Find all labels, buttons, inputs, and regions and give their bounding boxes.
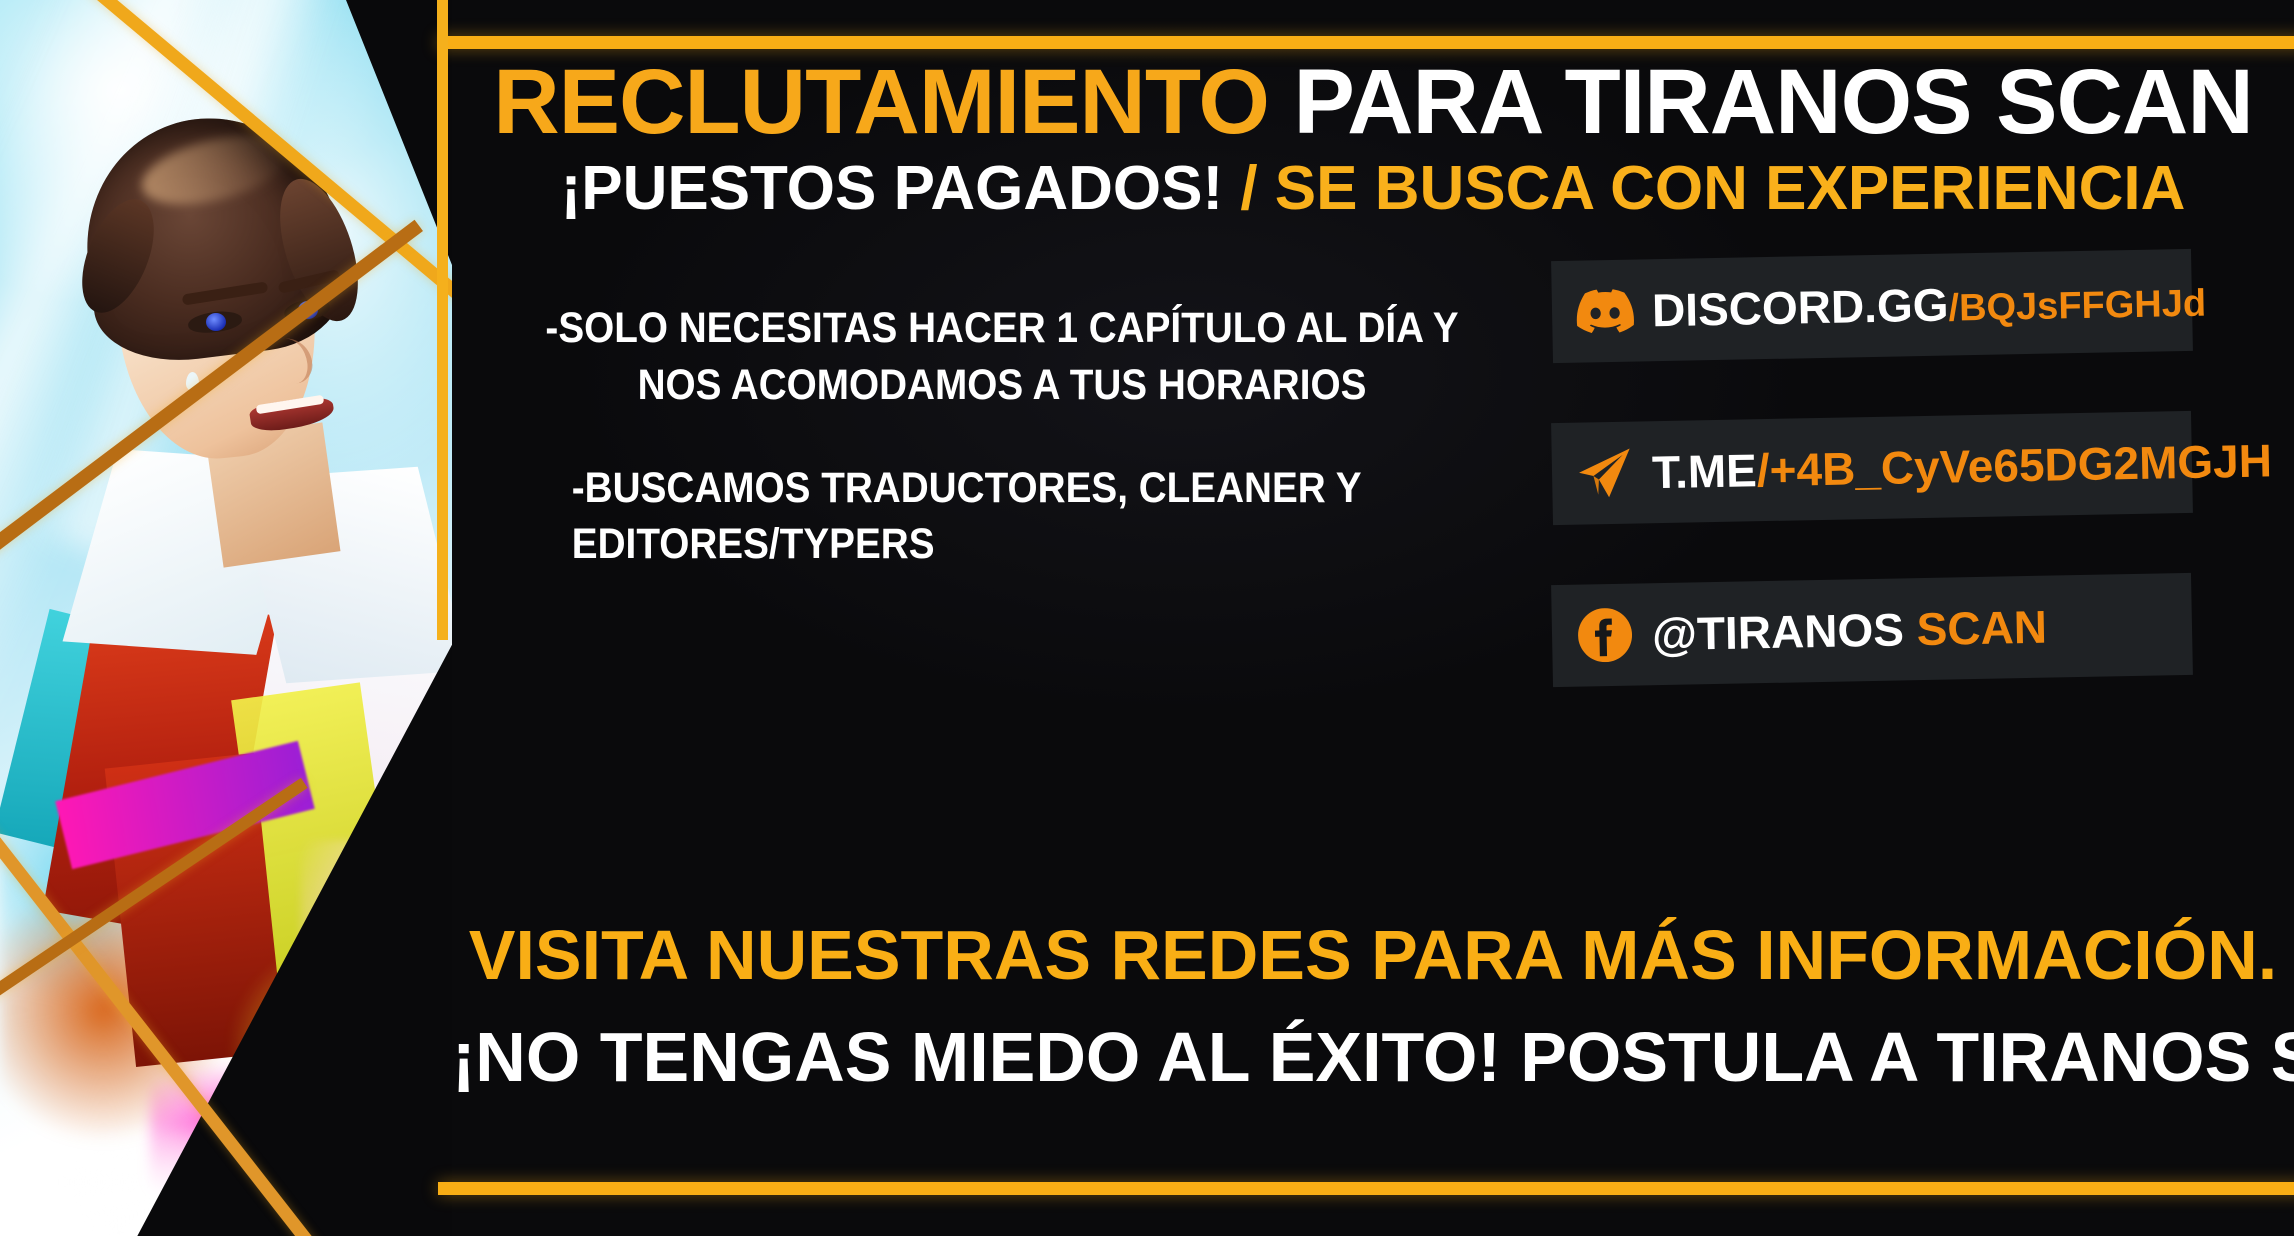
contact-discord[interactable]: DISCORD.GG/BQJsFFGHJd [1551,249,2193,363]
facebook-handle: @TIRANOS [1652,603,1918,660]
subtitle-paid: ¡PUESTOS PAGADOS! [561,154,1241,223]
contact-facebook[interactable]: @TIRANOS SCAN [1551,573,2193,687]
content-panel: RECLUTAMIENTO PARA TIRANOS SCAN ¡PUESTOS… [452,0,2294,1236]
requirement-item-1: -SOLO NECESITAS HACER 1 CAPÍTULO AL DÍA … [525,300,1479,414]
artwork-panel [0,0,452,1236]
cta-line-2: ¡NO TENGAS MIEDO AL ÉXITO! POSTULA A TIR… [452,1022,2294,1092]
title-highlight: RECLUTAMIENTO [493,51,1269,153]
facebook-icon [1574,608,1637,663]
discord-domain: DISCORD.GG [1652,279,1949,337]
gold-vertical-edge [437,0,448,640]
facebook-handle-suffix: SCAN [1916,601,2047,655]
contact-list: DISCORD.GG/BQJsFFGHJd T.ME/+4B_CyVe65DG2… [1552,255,2192,741]
contact-telegram-label: T.ME/+4B_CyVe65DG2MGJH [1652,433,2273,499]
telegram-domain: T.ME [1652,444,1758,498]
gold-rule-bottom [438,1182,2294,1195]
page-subtitle: ¡PUESTOS PAGADOS! / SE BUSCA CON EXPERIE… [452,158,2294,220]
gold-rule-top [438,36,2294,49]
recruitment-banner: RECLUTAMIENTO PARA TIRANOS SCAN ¡PUESTOS… [0,0,2294,1236]
requirements-list: -SOLO NECESITAS HACER 1 CAPÍTULO AL DÍA … [525,300,1479,573]
telegram-invite-code: /+4B_CyVe65DG2MGJH [1756,434,2272,496]
requirement-item-2: -BUSCAMOS TRADUCTORES, CLEANER Y EDITORE… [525,460,1479,574]
iris-left [206,313,226,331]
cta-line-1: VISITA NUESTRAS REDES PARA MÁS INFORMACI… [452,920,2294,990]
subtitle-experience: / SE BUSCA CON EXPERIENCIA [1240,154,2185,223]
telegram-icon [1574,447,1637,500]
contact-facebook-label: @TIRANOS SCAN [1652,600,2048,662]
discord-invite-code: /BQJsFFGHJd [1948,283,2206,330]
title-rest: PARA TIRANOS SCAN [1269,51,2253,153]
discord-icon [1574,289,1637,334]
page-title: RECLUTAMIENTO PARA TIRANOS SCAN [452,56,2294,148]
contact-telegram[interactable]: T.ME/+4B_CyVe65DG2MGJH [1551,411,2193,525]
contact-discord-label: DISCORD.GG/BQJsFFGHJd [1652,273,2207,338]
